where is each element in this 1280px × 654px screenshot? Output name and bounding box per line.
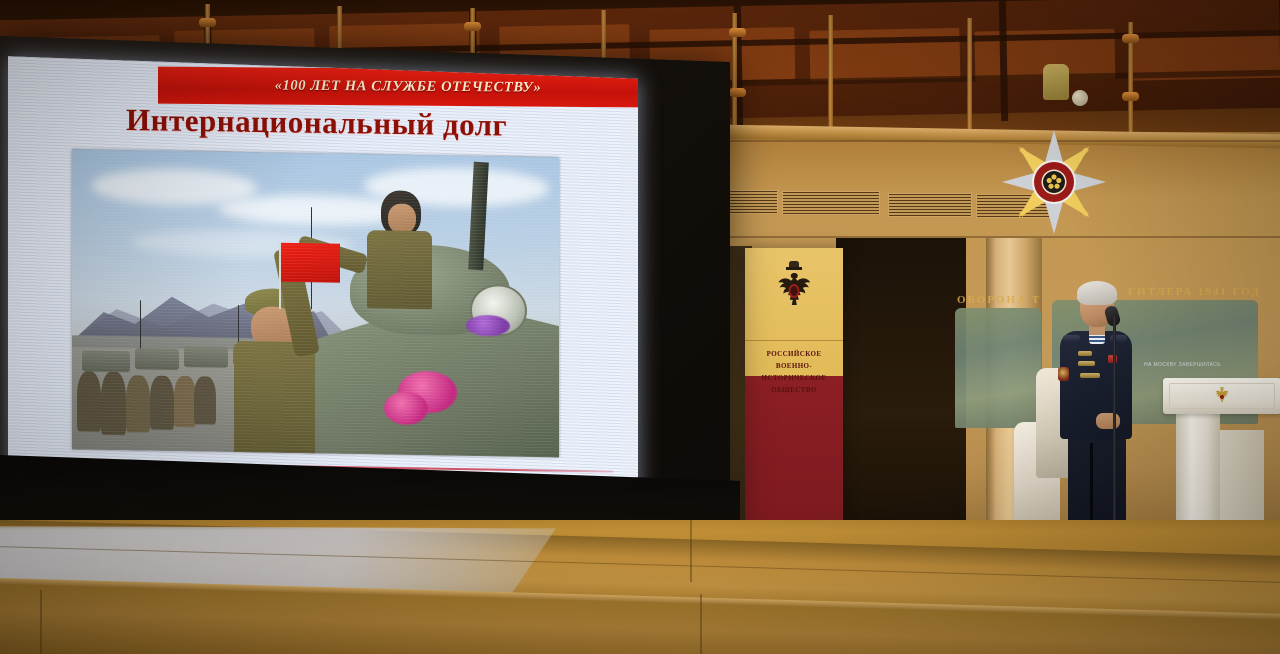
presentation-slide: «100 ЛЕТ НА СЛУЖБЕ ОТЕЧЕСТВУ» Интернацио… [8, 56, 638, 524]
wall-recess [836, 238, 966, 530]
balcony-loudspeaker [1043, 64, 1069, 100]
officer-sleeve-patch [1058, 367, 1069, 381]
slide-banner-text: «100 ЛЕТ НА СЛУЖБЕ ОТЕЧЕСТВУ» [275, 78, 542, 97]
officer-chest-badge [1080, 373, 1100, 378]
photo-crowd [101, 372, 125, 435]
officer-chest-badge [1078, 361, 1095, 366]
photo-red-flag [281, 243, 339, 283]
balcony-object [1072, 90, 1088, 106]
double-headed-eagle-icon [1213, 386, 1232, 406]
officer-hands [1096, 413, 1120, 429]
banner-divider [745, 340, 843, 341]
photo-crowd [150, 376, 174, 430]
photo-convoy-vehicle [184, 346, 228, 368]
speaker-officer [1056, 285, 1134, 550]
wall-vent [888, 193, 972, 217]
microphone-stand-pole [1113, 316, 1116, 536]
podium-column [1176, 414, 1220, 534]
exhibit-subcaption: НА МОСКВУ ЗАВЕРШИЛАСЬ [1144, 362, 1221, 368]
podium-lectern [1163, 378, 1280, 414]
photo-convoy-vehicle [135, 348, 179, 370]
wall-seam [690, 236, 1280, 238]
photo-flowers [466, 315, 510, 337]
officer-hair [1077, 281, 1117, 305]
photo-crowd [174, 376, 196, 427]
officer-chest-badge [1078, 351, 1092, 356]
screenshot-root: ОБОРОНА Т ГИТЛЕРА 1941 ГОД НА МОСКВУ ЗАВ… [0, 0, 1280, 654]
photo-flowers [384, 391, 428, 425]
double-headed-eagle-icon [765, 260, 823, 326]
banner-line-2: ВОЕННО-ИСТОРИЧЕСКОЕ [745, 360, 843, 384]
banner-line-3: ОБЩЕСТВО [745, 384, 843, 396]
stage-front-seam [40, 590, 42, 654]
officer-epaulet-left [1063, 335, 1080, 342]
exhibit-panel [955, 308, 1041, 428]
photo-soldier-on-vehicle [354, 190, 442, 317]
slide-photograph [72, 149, 559, 457]
photo-antenna [140, 300, 141, 348]
railing-post [967, 18, 972, 132]
photo-convoy-vehicle [82, 350, 131, 372]
slide-title: Интернациональный долг [126, 102, 638, 146]
stage-platform [0, 520, 1280, 654]
stage-seam [690, 520, 692, 582]
banner-org-name: РОССИЙСКОЕ ВОЕННО-ИСТОРИЧЕСКОЕ ОБЩЕСТВО [745, 348, 843, 396]
wall-seam [690, 140, 1280, 142]
photo-crowd [194, 376, 216, 424]
photo-soldier-with-flag [228, 278, 325, 454]
exhibit-caption: ОБОРОНА Т [957, 294, 1041, 306]
wall-vent [782, 191, 880, 215]
wall-vent [724, 190, 778, 214]
stage-front-seam [700, 594, 702, 654]
photo-crowd [126, 375, 150, 432]
railing-post [828, 15, 833, 132]
order-star-emblem [1000, 128, 1108, 236]
banner-line-1: РОССИЙСКОЕ [745, 348, 843, 360]
exhibit-caption: ГИТЛЕРА 1941 ГОД [1128, 286, 1261, 298]
rollup-banner-rvio: РОССИЙСКОЕ ВОЕННО-ИСТОРИЧЕСКОЕ ОБЩЕСТВО [745, 248, 843, 526]
photo-crowd [77, 371, 101, 431]
